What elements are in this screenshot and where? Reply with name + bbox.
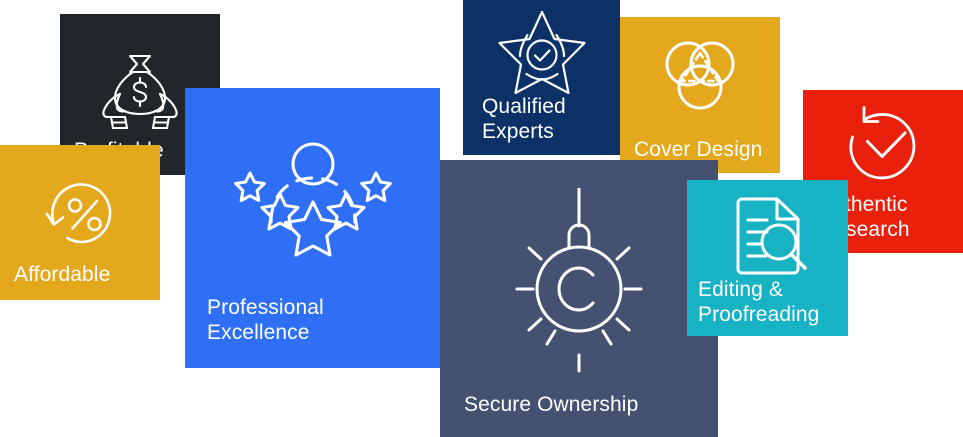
three-overlapping-circles-icon <box>658 35 742 124</box>
card-title-line1: Editing & <box>698 278 848 303</box>
card-editing-proofreading[interactable]: Editing & Proofreading <box>687 180 848 336</box>
card-affordable[interactable]: Affordable <box>0 145 160 300</box>
card-title-line2: Experts <box>482 120 620 145</box>
card-title: Editing & Proofreading <box>687 278 848 328</box>
card-secure-ownership[interactable]: Secure Ownership <box>440 160 718 437</box>
card-title: Secure Ownership <box>440 393 718 418</box>
money-bag-in-hands-icon <box>93 42 187 141</box>
card-title-line1: Qualified <box>482 95 620 120</box>
card-cover-design[interactable]: Cover Design <box>620 17 780 173</box>
card-title: Affordable <box>0 263 160 288</box>
card-title-line2: Excellence <box>207 321 440 346</box>
person-five-stars-icon <box>233 136 393 266</box>
card-title-line1: Professional <box>207 296 440 321</box>
document-magnifier-icon <box>722 190 814 287</box>
card-title: Professional Excellence <box>185 296 440 346</box>
card-title: Qualified Experts <box>463 95 620 145</box>
card-qualified-experts[interactable]: Qualified Experts <box>463 0 620 155</box>
feature-tile-collage: Profitable Affordable <box>0 0 963 437</box>
card-professional-excellence[interactable]: Professional Excellence <box>185 88 440 368</box>
star-check-badge-icon <box>494 6 589 99</box>
circular-arrow-check-icon <box>842 106 924 193</box>
percent-refresh-arrow-icon <box>39 175 121 262</box>
card-title-line2: Proofreading <box>698 303 848 328</box>
copyright-pendant-rays-icon <box>497 188 661 383</box>
